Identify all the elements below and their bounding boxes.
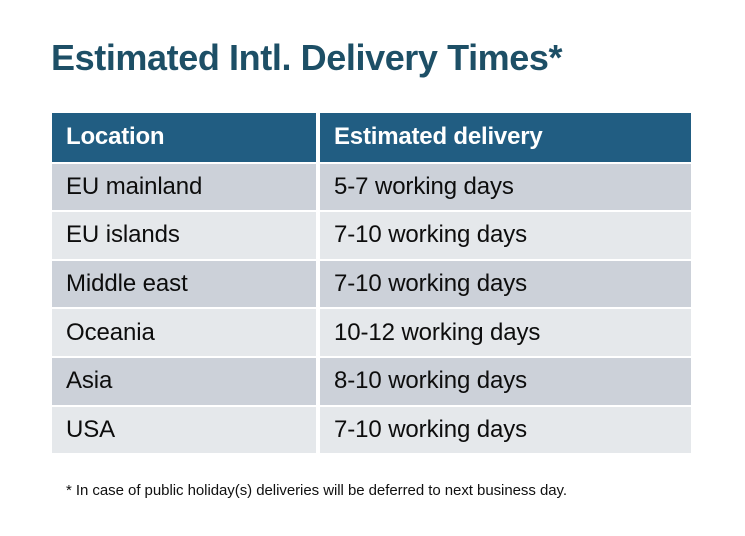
delivery-times-page: Estimated Intl. Delivery Times* Location…: [0, 0, 745, 536]
table-row: Asia 8-10 working days: [52, 356, 691, 405]
cell-delivery: 10-12 working days: [320, 307, 691, 356]
cell-delivery: 7-10 working days: [320, 210, 691, 259]
footnote-text: * In case of public holiday(s) deliverie…: [66, 481, 567, 501]
cell-delivery: 8-10 working days: [320, 356, 691, 405]
cell-delivery: 7-10 working days: [320, 259, 691, 308]
cell-delivery: 5-7 working days: [320, 162, 691, 211]
cell-location: USA: [52, 405, 316, 454]
delivery-times-table: Location Estimated delivery EU mainland …: [52, 113, 691, 453]
table-row: EU islands 7-10 working days: [52, 210, 691, 259]
table-row: EU mainland 5-7 working days: [52, 162, 691, 211]
table-row: Oceania 10-12 working days: [52, 307, 691, 356]
table-header: Location Estimated delivery: [52, 113, 691, 162]
table-row: Middle east 7-10 working days: [52, 259, 691, 308]
cell-location: EU islands: [52, 210, 316, 259]
table-header-row: Location Estimated delivery: [52, 113, 691, 162]
table-body: EU mainland 5-7 working days EU islands …: [52, 162, 691, 454]
cell-location: EU mainland: [52, 162, 316, 211]
cell-location: Middle east: [52, 259, 316, 308]
cell-location: Asia: [52, 356, 316, 405]
table-row: USA 7-10 working days: [52, 405, 691, 454]
cell-location: Oceania: [52, 307, 316, 356]
cell-delivery: 7-10 working days: [320, 405, 691, 454]
column-header-delivery: Estimated delivery: [320, 113, 691, 162]
page-title: Estimated Intl. Delivery Times*: [51, 36, 562, 80]
column-header-location: Location: [52, 113, 316, 162]
